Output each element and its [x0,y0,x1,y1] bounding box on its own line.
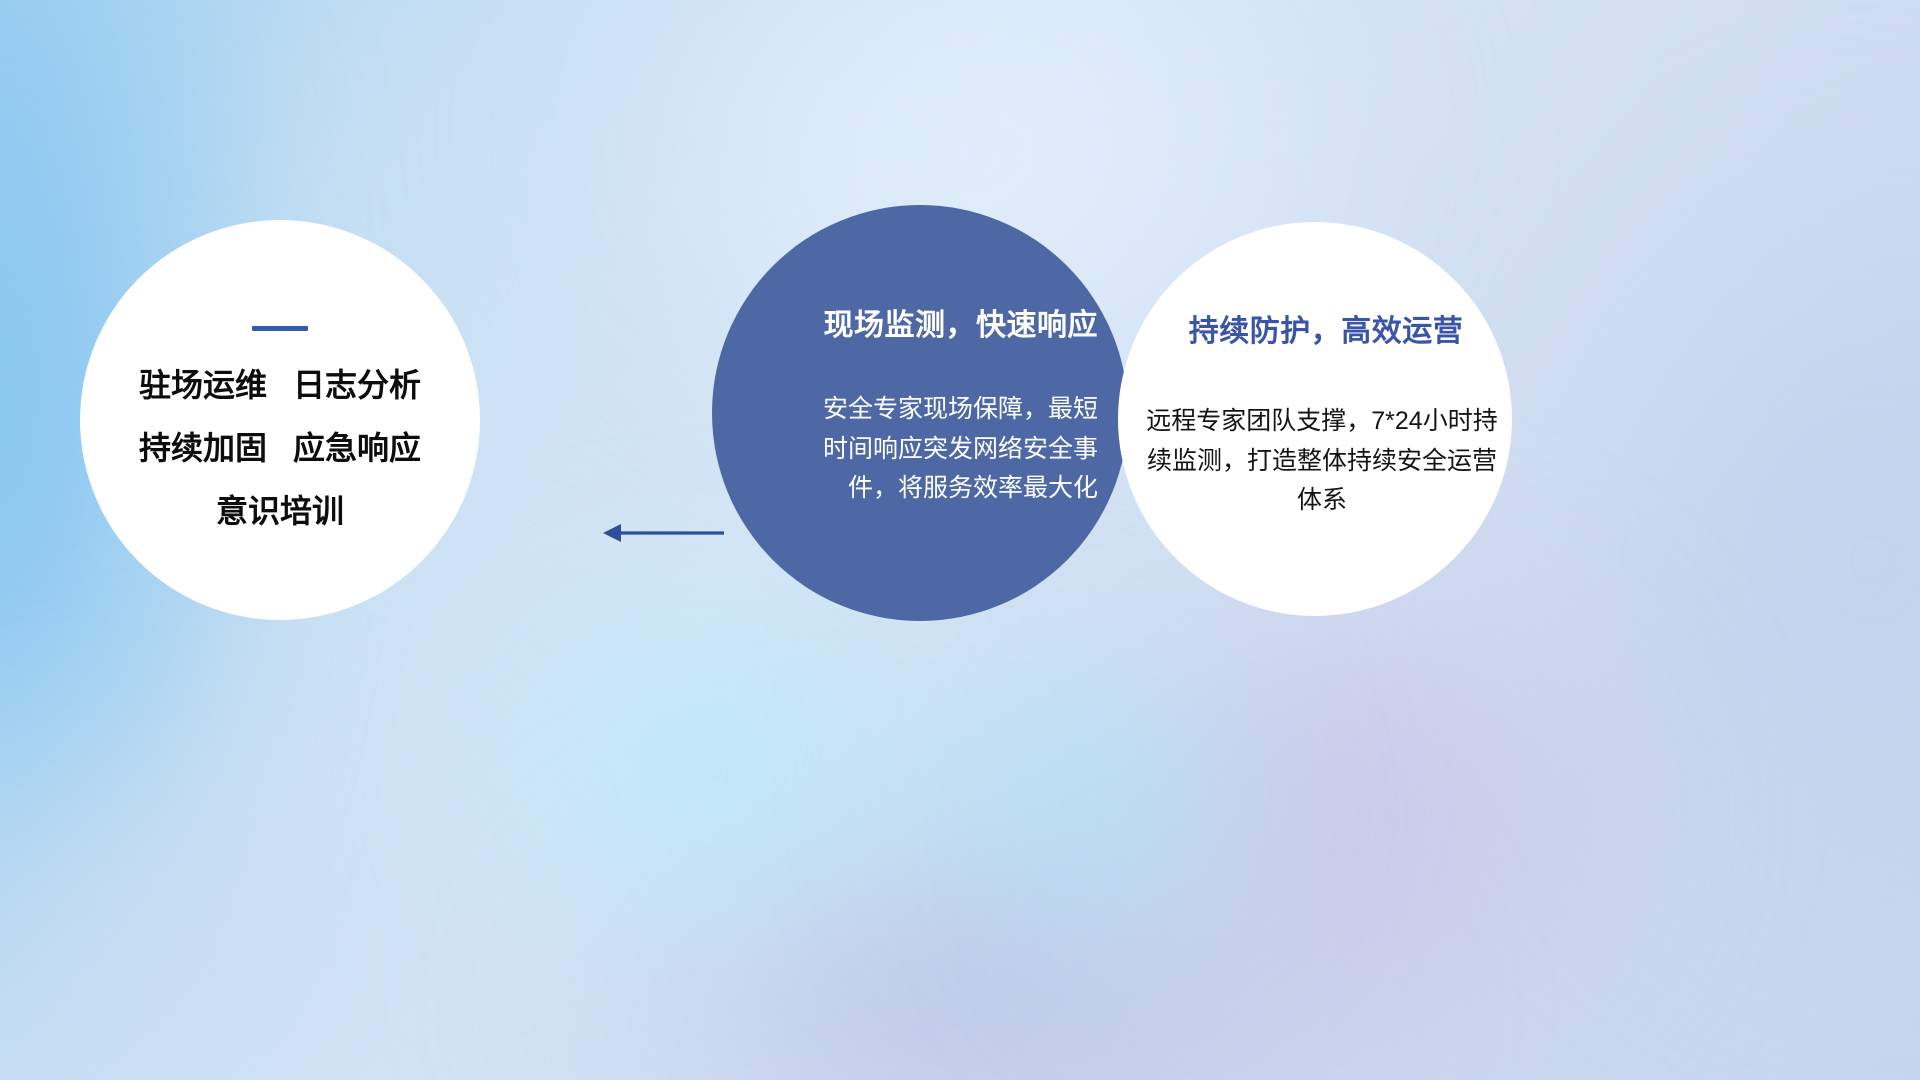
leftward-flow-arrow-icon [595,516,725,550]
background-blob-lavender-wide [520,820,1420,1080]
capability-label: 应急响应 [293,430,421,466]
capability-label: 日志分析 [293,367,421,403]
list-item: 意识培训 [139,495,421,527]
background-blob-cyan-left [430,560,990,980]
continuous-description: 远程专家团队支撑，7*24小时持续监测，打造整体持续安全运营体系 [1137,402,1507,521]
onsite-title: 现场监测，快速响应 [824,300,1099,344]
continuous-protection-circle[interactable]: 持续防护，高效运营 远程专家团队支撑，7*24小时持续监测，打造整体持续安全运营… [1118,222,1512,616]
capability-label: 意识培训 [216,493,344,529]
background-blob-bottom-left [0,700,540,1080]
list-item: 驻场运维日志分析 [139,369,421,401]
slide-canvas: 驻场运维日志分析 持续加固应急响应 意识培训 现场监测，快速响应 安全专家现场保… [0,0,1920,1080]
background-blob-lavender [1060,580,1680,1080]
capabilities-circle[interactable]: 驻场运维日志分析 持续加固应急响应 意识培训 [80,220,480,620]
background-blob-cyan-right [880,620,1300,980]
list-item: 持续加固应急响应 [139,432,421,464]
dash-divider-icon [252,326,308,331]
capability-label: 持续加固 [139,430,267,466]
background-blob-right [1520,120,1920,1000]
onsite-description: 安全专家现场保障，最短时间响应突发网络安全事件，将服务效率最大化 [818,390,1098,509]
capability-label: 驻场运维 [139,367,267,403]
continuous-title: 持续防护，高效运营 [1189,306,1464,350]
capabilities-list: 驻场运维日志分析 持续加固应急响应 意识培训 [139,369,421,527]
onsite-monitoring-circle[interactable]: 现场监测，快速响应 安全专家现场保障，最短时间响应突发网络安全事件，将服务效率最… [712,205,1128,621]
